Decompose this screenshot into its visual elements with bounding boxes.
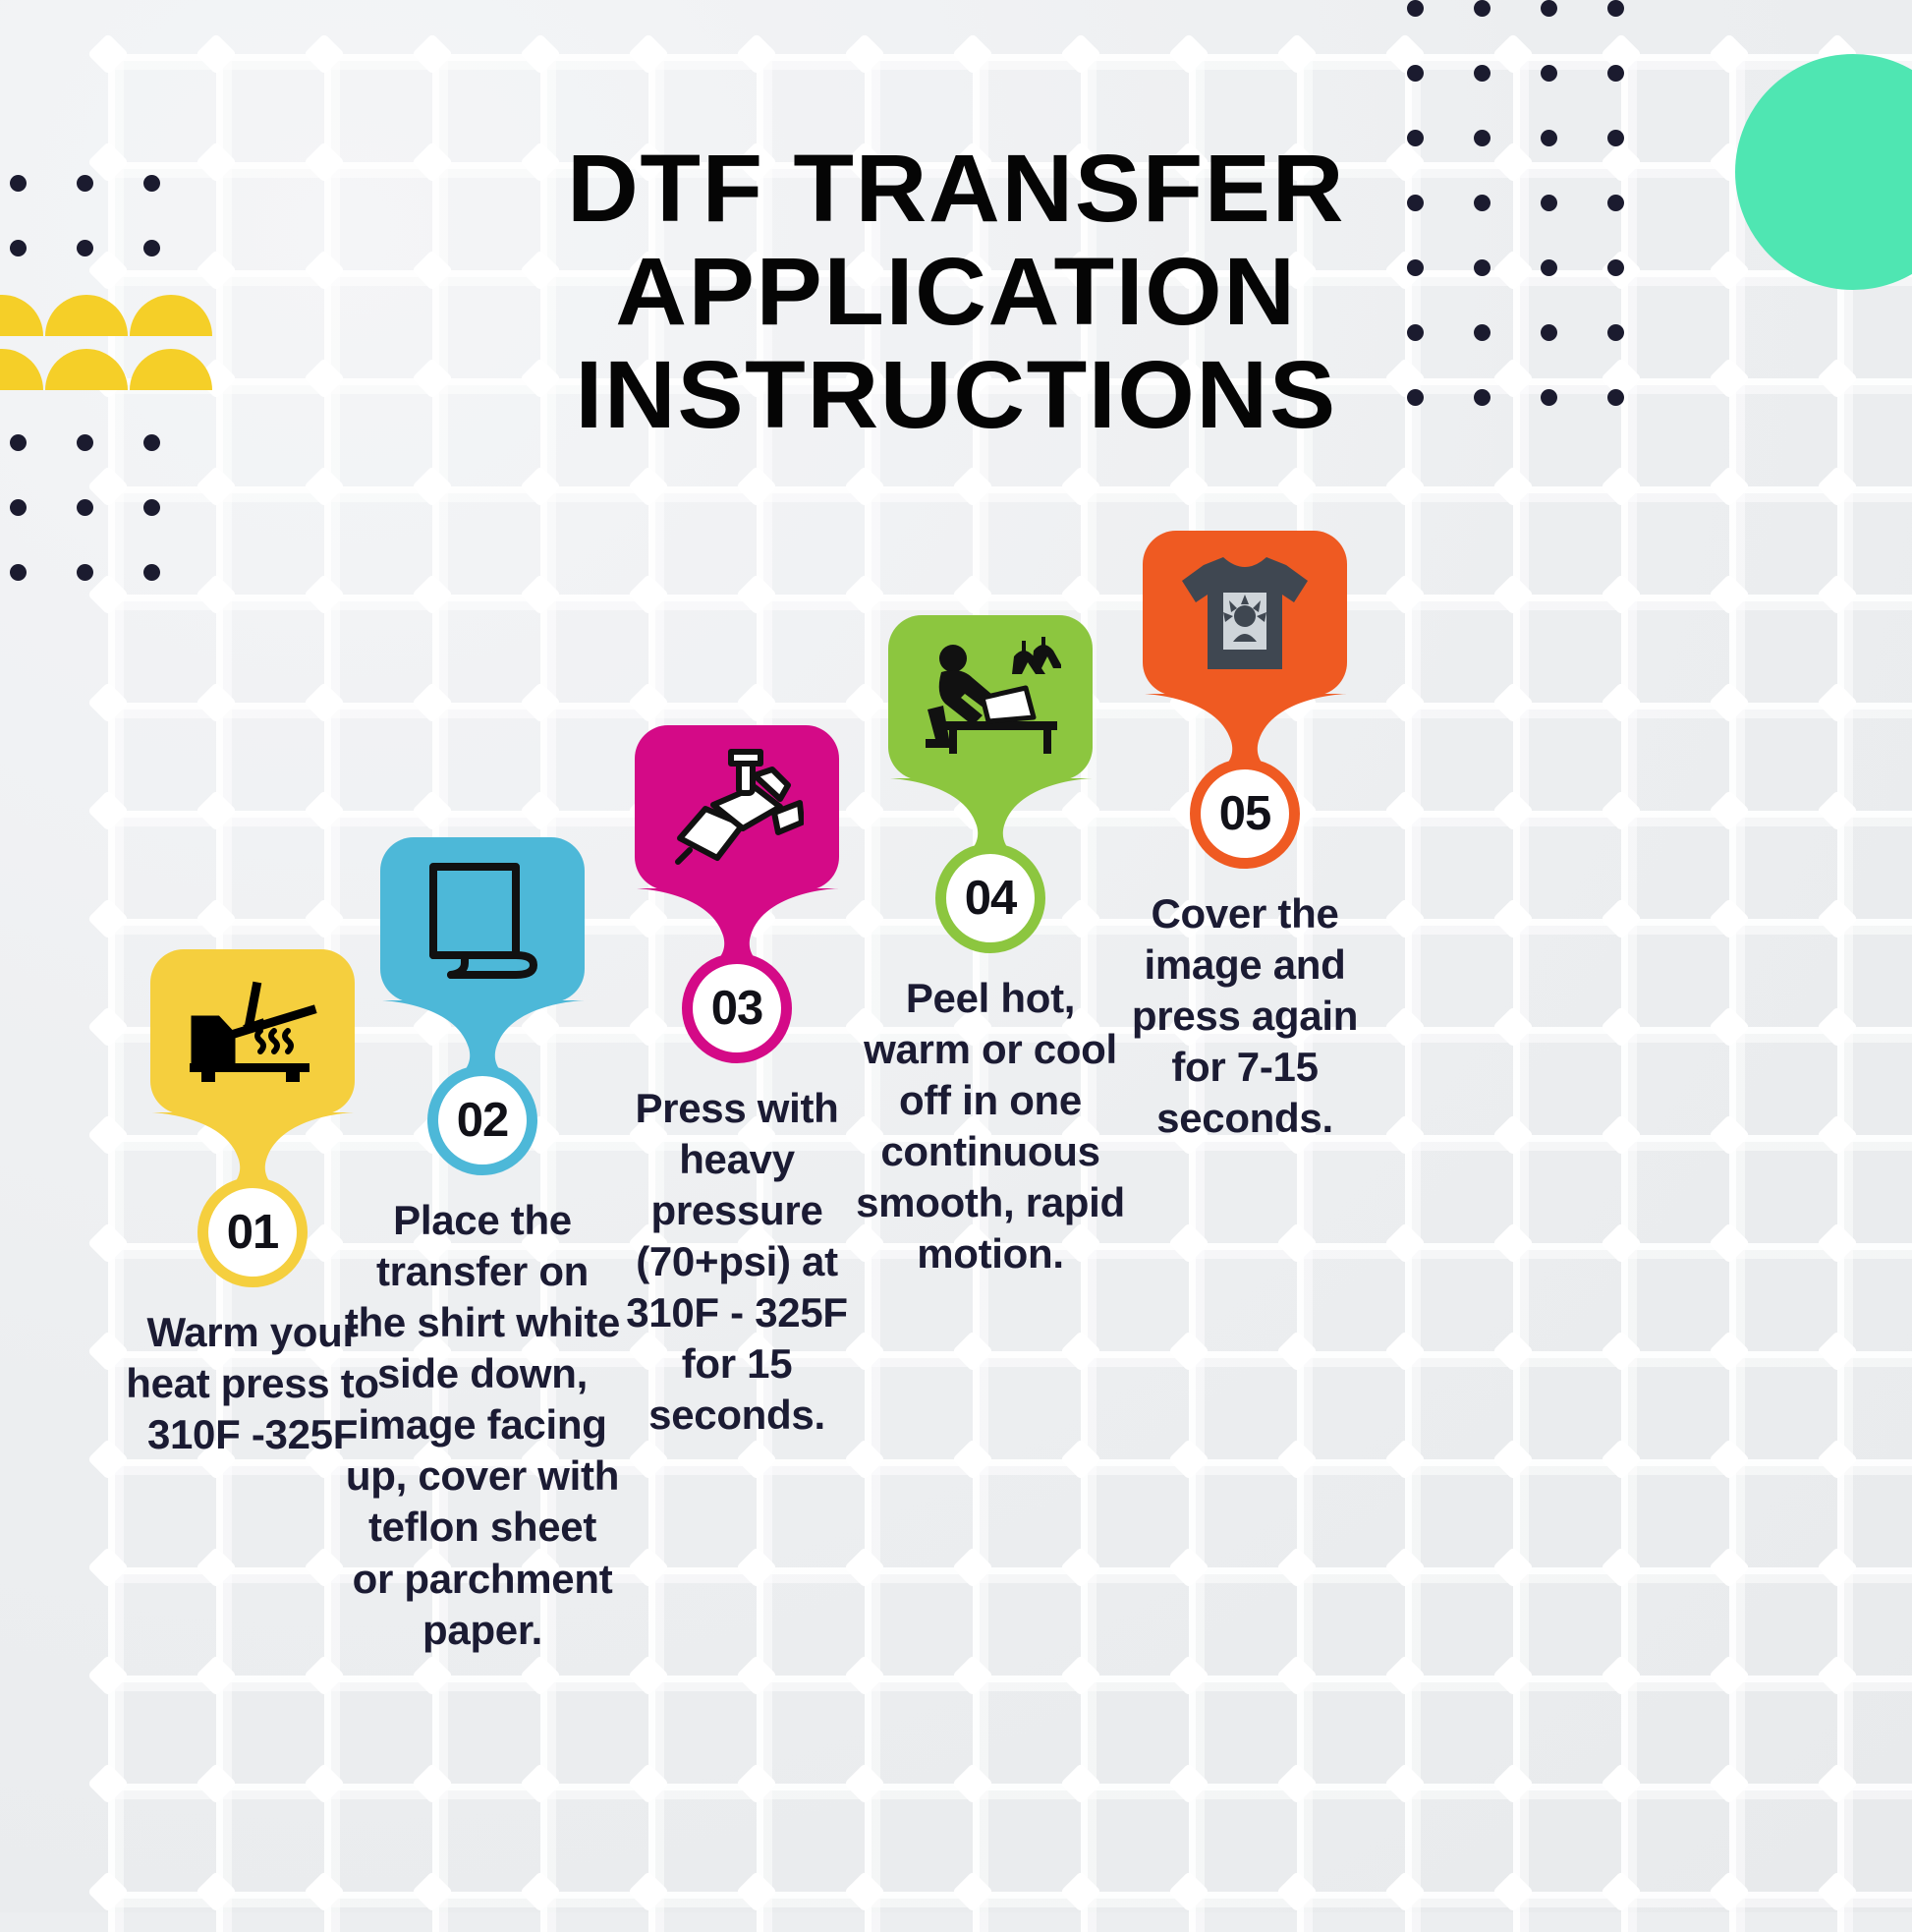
step-caption-04: Peel hot, warm or cool off in one contin…	[843, 973, 1138, 1279]
step-item-04: 04 Peel hot, warm or cool off in one con…	[843, 615, 1138, 1279]
step-item-03: 03 Press with heavy pressure (70+psi) at…	[590, 725, 884, 1442]
title-block: DTF TRANSFER APPLICATION INSTRUCTIONS	[0, 138, 1912, 446]
page-title: DTF TRANSFER APPLICATION INSTRUCTIONS	[231, 138, 1682, 446]
step-icon-card-05[interactable]	[1143, 531, 1347, 696]
transfer-sheet-icon	[422, 857, 543, 983]
step-icon-card-03[interactable]	[635, 725, 839, 890]
step-number-badge-03: 03	[682, 953, 792, 1063]
step-item-02: 02 Place the transfer on the shirt white…	[335, 837, 630, 1656]
step-item-05: 05 Cover the image and press again for 7…	[1097, 531, 1392, 1144]
step-icon-card-01[interactable]	[150, 949, 355, 1114]
step-caption-05: Cover the image and press again for 7-15…	[1097, 888, 1392, 1144]
step-number-badge-04: 04	[935, 843, 1045, 953]
step-number-05: 05	[1219, 790, 1271, 838]
step-icon-card-04[interactable]	[888, 615, 1093, 780]
step-number-badge-05: 05	[1190, 759, 1300, 869]
step-caption-02: Place the transfer on the shirt white si…	[335, 1195, 630, 1656]
step-number-04: 04	[965, 875, 1017, 923]
step-number-badge-02: 02	[427, 1065, 537, 1175]
heat-press-icon	[188, 981, 317, 1083]
step-number-01: 01	[227, 1209, 279, 1257]
step-number-03: 03	[711, 985, 763, 1033]
step-icon-card-02[interactable]	[380, 837, 585, 1002]
step-number-badge-01: 01	[197, 1177, 308, 1287]
printed-tshirt-icon	[1176, 551, 1314, 675]
press-machine-icon	[670, 748, 804, 868]
step-number-02: 02	[457, 1097, 509, 1145]
step-caption-03: Press with heavy pressure (70+psi) at 31…	[590, 1083, 884, 1442]
peel-worker-icon	[920, 637, 1061, 759]
